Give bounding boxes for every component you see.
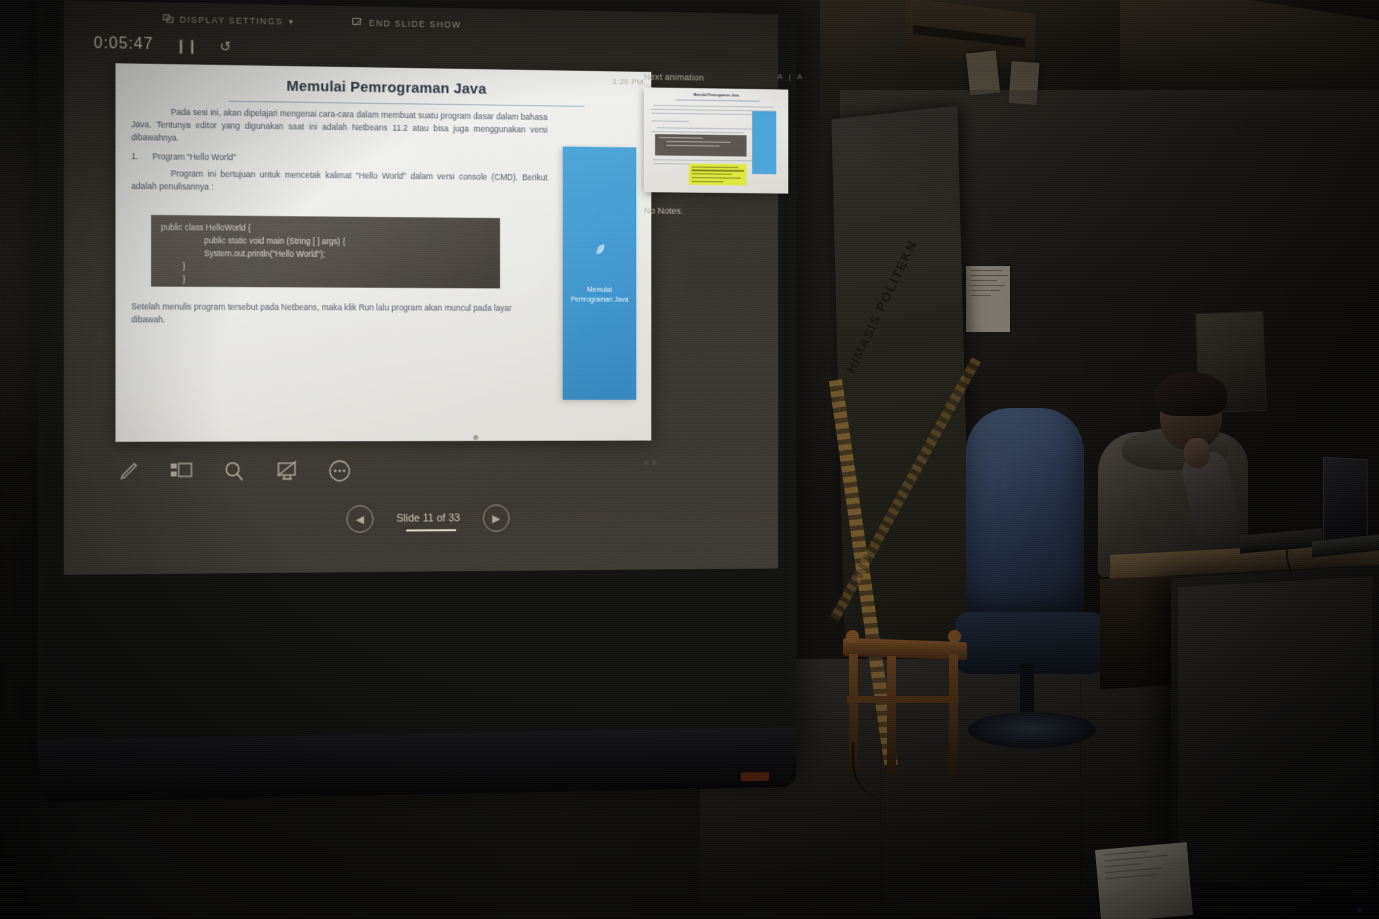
restart-timer-button[interactable]: ↺ [220, 38, 231, 55]
end-show-icon [353, 17, 364, 28]
slide-accent-panel: Memulai Pemrograman Java [563, 147, 637, 400]
slide-body-text: Pada sesi ini, akan dipelajari mengenai … [131, 105, 547, 202]
projection-whiteboard: DISPLAY SETTINGS ▾ END SLIDE SHOW 0:05:4… [38, 0, 806, 800]
slide-footer-text: Setelah menulis program tersebut pada Ne… [131, 300, 538, 327]
person-hand [1184, 438, 1210, 468]
slide-title: Memulai Pemrograman Java [115, 75, 651, 100]
monitor-screen [1178, 576, 1373, 890]
slide-navigation: ◀ Slide 11 of 33 ▶ [346, 498, 509, 540]
list-text: Program “Hello World” [152, 150, 236, 164]
person-hair [1155, 372, 1227, 416]
black-screen-icon[interactable] [275, 458, 300, 484]
hanging-card-1 [966, 51, 1000, 96]
code-line-5: } [161, 273, 491, 288]
accent-panel-line-2: Pemrograman Java [571, 295, 629, 305]
banner-text: HIMASIS POLITEKN [843, 160, 958, 376]
presenter-tools [115, 451, 369, 492]
end-slide-show-button[interactable]: END SLIDE SHOW [353, 17, 462, 30]
text-controls-separator: | [789, 72, 791, 81]
thumbnail-accent-panel [752, 111, 776, 174]
text-size-controls: A | A [777, 72, 802, 81]
no-notes-text: No Notes. [644, 206, 808, 218]
foreground-monitor [1171, 565, 1379, 919]
pen-icon[interactable] [115, 459, 141, 485]
leaf-icon [592, 242, 606, 257]
end-slide-show-label: END SLIDE SHOW [369, 18, 461, 30]
current-slide[interactable]: 1:20 PM Memulai Pemrograman Java Pada se… [115, 63, 651, 442]
pause-timer-button[interactable]: ❙❙ [175, 37, 198, 54]
laptop-screen [1323, 457, 1368, 544]
thumbnail-title: Memulai Pemrograman Java [644, 92, 788, 98]
code-snippet: public class HelloWorld { public static … [151, 215, 500, 288]
thumbnail-title-rule [676, 99, 760, 101]
code-line-3: System.out.println("Hello World"); [161, 247, 491, 262]
slide-paragraph-2: Program ini bertujuan untuk mencetak kal… [131, 167, 547, 197]
office-chair-back [966, 408, 1084, 628]
organization-banner: HIMASIS POLITEKN [831, 106, 971, 652]
all-slides-icon[interactable] [169, 458, 195, 484]
slide-paragraph-1: Pada sesi ini, akan dipelajari mengenai … [131, 105, 547, 149]
next-slide-button[interactable]: ▶ [483, 504, 510, 532]
list-number: 1. [131, 150, 138, 163]
resize-marks: «» [644, 458, 660, 469]
decrease-text-button[interactable]: A [777, 72, 782, 81]
notes-column: A | A Next animation Memulai Pemrograman… [644, 72, 808, 218]
next-slide-thumbnail[interactable]: Memulai Pemrograman Java [644, 87, 788, 193]
laser-pointer-dot [473, 435, 478, 440]
powerpoint-presenter-view: DISPLAY SETTINGS ▾ END SLIDE SHOW 0:05:4… [64, 0, 778, 574]
ac-vent [913, 25, 1025, 48]
stool-rail [847, 696, 959, 703]
display-settings-icon [163, 14, 174, 25]
slide-list-item-1: 1. Program “Hello World” [131, 150, 547, 168]
monitor-power-led [1357, 907, 1362, 912]
slide-counter-underline [406, 529, 456, 531]
previous-slide-button[interactable]: ◀ [346, 505, 373, 533]
stool-leg-3 [949, 654, 958, 776]
stool-knob-right [948, 630, 961, 643]
elapsed-time: 0:05:47 [94, 35, 154, 54]
wall-notice-right [966, 266, 1010, 332]
desk-papers [1095, 842, 1193, 919]
slide-counter-text: Slide 11 of 33 [396, 512, 460, 524]
tray-brand-label [741, 772, 769, 781]
more-options-icon[interactable] [327, 458, 352, 484]
thumbnail-highlight-box [689, 164, 747, 186]
display-settings-button[interactable]: DISPLAY SETTINGS ▾ [163, 14, 294, 27]
office-chair-base [968, 712, 1096, 748]
slide-counter: Slide 11 of 33 [396, 512, 460, 524]
zoom-icon[interactable] [222, 458, 247, 484]
title-underline [229, 101, 585, 107]
display-settings-label: DISPLAY SETTINGS [180, 15, 283, 27]
stool-knob-left [846, 630, 859, 643]
chevron-down-icon: ▾ [289, 16, 295, 27]
accent-panel-line-1: Memulai [587, 285, 612, 295]
increase-text-button[interactable]: A [797, 72, 802, 81]
thumbnail-code-block [655, 134, 746, 156]
